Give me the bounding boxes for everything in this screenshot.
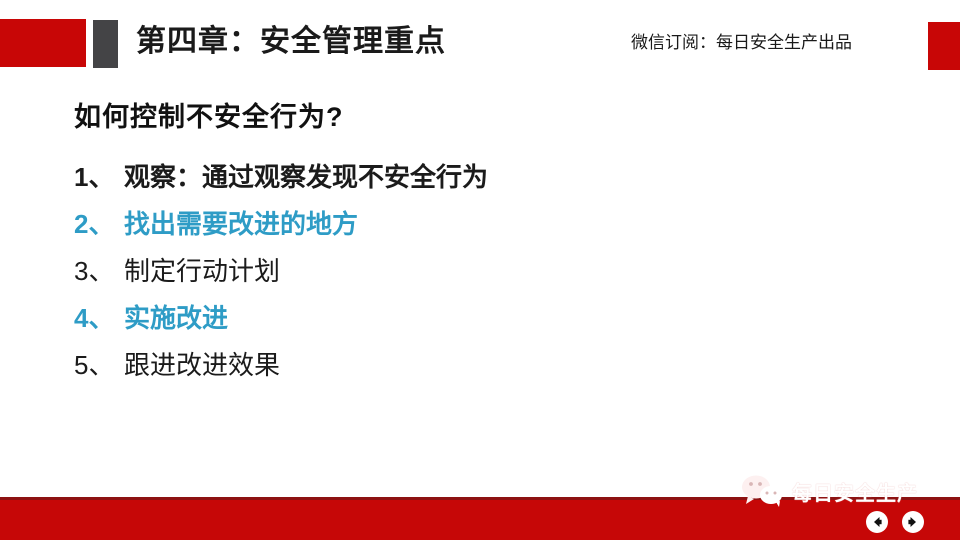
brand-block: 每日安全生产: [740, 474, 918, 508]
list-item-number: 1、: [74, 154, 124, 201]
header-red-block-right: [928, 22, 960, 70]
page-title: 第四章：安全管理重点: [136, 22, 446, 62]
header-gray-accent-bar: [93, 20, 118, 68]
header-red-block-left: [0, 19, 86, 67]
list-item-number: 4、: [74, 295, 124, 342]
list-item: 3、 制定行动计划: [74, 248, 894, 295]
list-item-label: 观察：通过观察发现不安全行为: [124, 154, 488, 201]
slide-navigation: [866, 511, 924, 533]
list-item-label: 找出需要改进的地方: [124, 201, 358, 248]
steps-list: 1、 观察：通过观察发现不安全行为 2、 找出需要改进的地方 3、 制定行动计划…: [74, 154, 894, 389]
slide-canvas: 第四章：安全管理重点 微信订阅：每日安全生产出品 如何控制不安全行为? 1、 观…: [0, 0, 960, 540]
question-heading: 如何控制不安全行为?: [74, 98, 894, 136]
list-item-label: 跟进改进效果: [124, 342, 280, 389]
list-item: 4、 实施改进: [74, 295, 894, 342]
slide-content: 如何控制不安全行为? 1、 观察：通过观察发现不安全行为 2、 找出需要改进的地…: [74, 98, 894, 389]
list-item-number: 2、: [74, 201, 124, 248]
wechat-icon: [740, 474, 784, 508]
list-item: 5、 跟进改进效果: [74, 342, 894, 389]
arrow-right-icon[interactable]: [902, 511, 924, 533]
subscription-note: 微信订阅：每日安全生产出品: [631, 31, 852, 55]
list-item: 2、 找出需要改进的地方: [74, 201, 894, 248]
arrow-left-icon[interactable]: [866, 511, 888, 533]
list-item: 1、 观察：通过观察发现不安全行为: [74, 154, 894, 201]
brand-name: 每日安全生产: [792, 477, 918, 506]
list-item-number: 5、: [74, 342, 124, 389]
list-item-label: 制定行动计划: [124, 248, 280, 295]
list-item-number: 3、: [74, 248, 124, 295]
list-item-label: 实施改进: [124, 295, 228, 342]
